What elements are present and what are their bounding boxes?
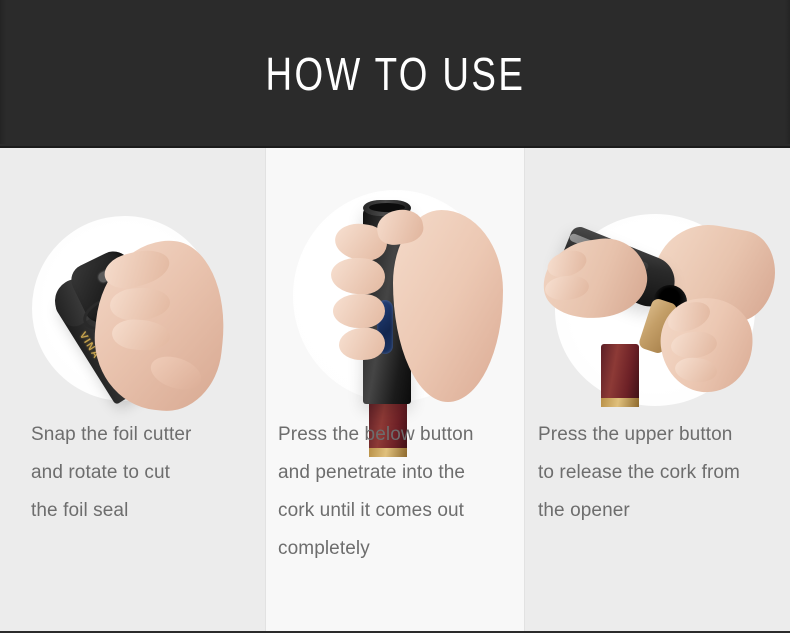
page-title: HOW TO USE	[265, 51, 525, 97]
how-to-use-page: HOW TO USE VINA Snap the foil cutter and…	[0, 0, 790, 633]
header-banner: HOW TO USE	[0, 0, 790, 148]
steps-container: VINA Snap the foil cutter and rotate to …	[0, 148, 790, 631]
step-1-caption: Snap the foil cutter and rotate to cut t…	[31, 416, 251, 530]
step-panel-1: VINA Snap the foil cutter and rotate to …	[0, 148, 265, 631]
step-panel-2: Press the below button and penetrate int…	[265, 148, 525, 631]
step-3-photo	[525, 148, 790, 413]
step-2-caption: Press the below button and penetrate int…	[278, 416, 523, 568]
step-2-photo	[265, 148, 525, 413]
hand-finger	[333, 294, 385, 328]
wine-bottle-neck	[601, 344, 639, 406]
bottle-gold-band	[601, 398, 639, 407]
step-3-caption: Press the upper button to release the co…	[538, 416, 783, 530]
step-1-photo: VINA	[0, 148, 265, 413]
step-panel-3: Press the upper button to release the co…	[525, 148, 790, 631]
